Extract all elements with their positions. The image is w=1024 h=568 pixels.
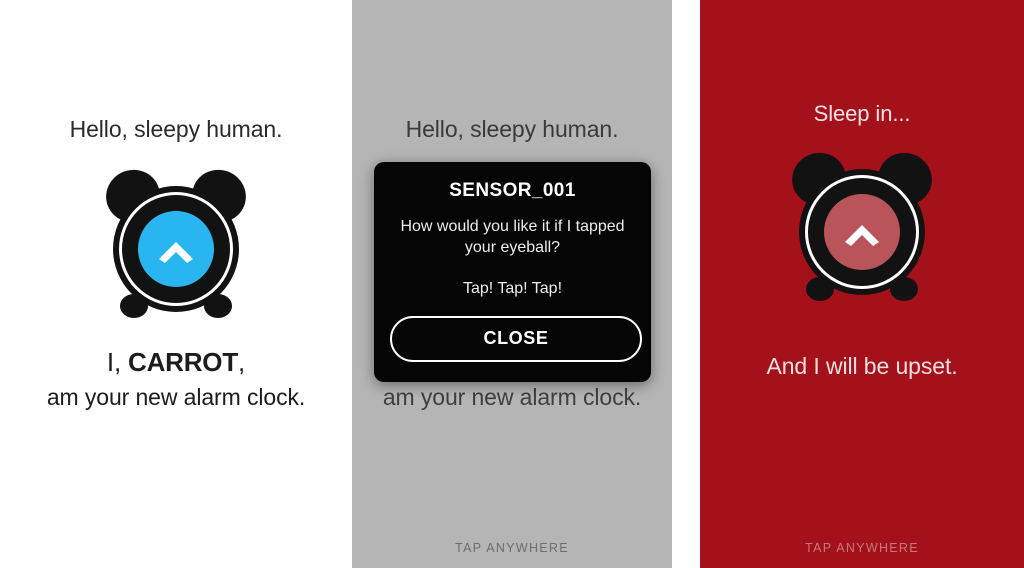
alarm-clock-icon-wrap	[788, 151, 936, 301]
panel-upset[interactable]: Sleep in... And I will	[700, 0, 1024, 568]
sensor-dialog: SENSOR_001 How would you like it if I ta…	[374, 162, 651, 382]
tagline-prefix: I,	[107, 347, 128, 377]
tagline-sub: am your new alarm clock.	[47, 383, 305, 412]
tagline-sub: am your new alarm clock.	[383, 383, 641, 412]
alarm-face-icon	[824, 194, 900, 270]
panel-intro[interactable]: Hello, sleepy human. I	[0, 0, 352, 568]
screenshot-stage: Hello, sleepy human. I	[0, 0, 1024, 568]
chevron-up-icon	[841, 218, 883, 246]
intro-screen[interactable]: Hello, sleepy human. I	[0, 0, 352, 568]
tagline-block: And I will be upset.	[766, 347, 957, 381]
dialog-body: How would you like it if I tapped your e…	[398, 216, 627, 259]
greeting-headline: Hello, sleepy human.	[70, 116, 283, 144]
brand-name: CARROT	[128, 347, 238, 377]
tagline-suffix: ,	[238, 347, 245, 377]
panel-sensor-dialog[interactable]: Hello, sleepy human. I	[352, 0, 672, 568]
alarm-clock-icon-wrap	[102, 168, 250, 318]
tagline-sub: And I will be upset.	[766, 352, 957, 381]
chevron-up-icon	[155, 235, 197, 263]
tagline-main: I, CARROT,	[47, 346, 305, 379]
close-button[interactable]: CLOSE	[390, 316, 642, 362]
alarm-clock-icon	[788, 151, 936, 301]
sleep-in-headline: Sleep in...	[814, 101, 911, 127]
tap-anywhere-hint[interactable]: TAP ANYWHERE	[700, 541, 1024, 555]
dialog-title: SENSOR_001	[390, 180, 635, 202]
tagline-block: I, CARROT, am your new alarm clock.	[47, 346, 305, 413]
alarm-clock-icon	[102, 168, 250, 318]
alarm-face-icon	[138, 211, 214, 287]
tap-anywhere-hint[interactable]: TAP ANYWHERE	[352, 541, 672, 555]
greeting-headline: Hello, sleepy human.	[406, 116, 619, 144]
dialog-tap-line: Tap! Tap! Tap!	[390, 280, 635, 298]
upset-screen[interactable]: Sleep in... And I will	[700, 0, 1024, 568]
